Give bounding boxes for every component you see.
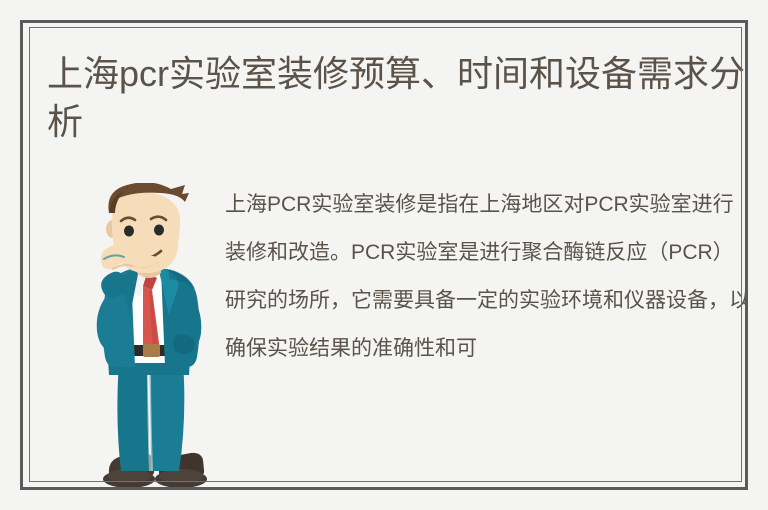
thinking-businessman-illustration (63, 183, 233, 487)
page-title: 上海pcr实验室装修预算、时间和设备需求分析 (47, 50, 745, 146)
card-content: 上海pcr实验室装修预算、时间和设备需求分析 (23, 23, 745, 487)
page-root: 上海pcr实验室装修预算、时间和设备需求分析 (0, 0, 768, 510)
trousers-group (108, 351, 190, 471)
article-body: 上海PCR实验室装修是指在上海地区对PCR实验室进行装修和改造。PCR实验室是进… (225, 181, 745, 373)
